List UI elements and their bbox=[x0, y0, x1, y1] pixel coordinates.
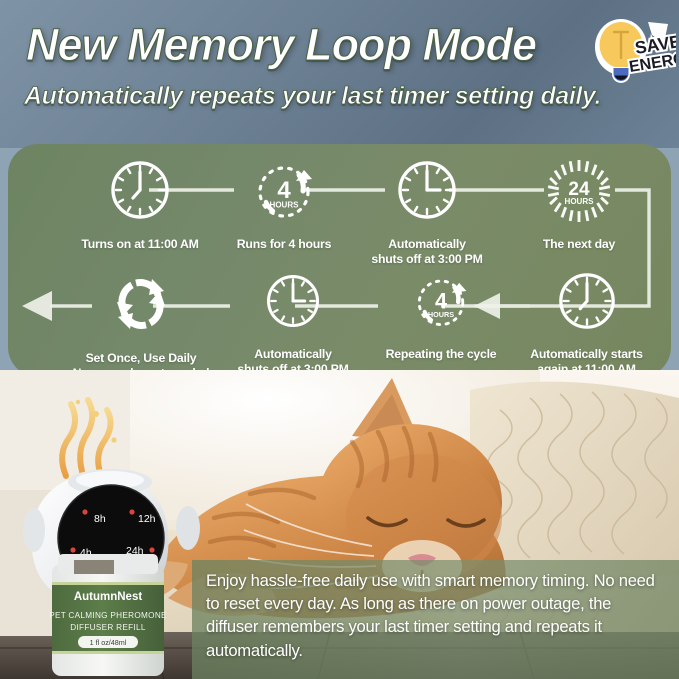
four-hours-icon: 4 HOURS bbox=[412, 272, 470, 330]
page-subtitle: Automatically repeats your last timer se… bbox=[24, 84, 664, 109]
flow-node-4: 24 HOURS The next day bbox=[504, 158, 654, 252]
svg-text:HOURS: HOURS bbox=[270, 201, 300, 210]
clock-icon bbox=[264, 272, 322, 330]
bottle-line1: PET CALMING PHEROMONE bbox=[49, 611, 167, 620]
clock-icon bbox=[395, 158, 459, 222]
flow-node-3: Automaticallyshuts off at 3:00 PM bbox=[337, 158, 517, 266]
memory-loop-flow-panel: Turns on at 11:00 AM 4 HOURS Runs for 4 … bbox=[8, 144, 671, 377]
four-hours-icon: 4 HOURS bbox=[252, 158, 316, 222]
loop-arrows-icon bbox=[111, 274, 171, 334]
indicator-dot-8h bbox=[82, 509, 87, 514]
flow-label-7: Repeating the cycle bbox=[358, 347, 524, 362]
refill-bottle: AutumnNest PET CALMING PHEROMONE DIFFUSE… bbox=[49, 554, 167, 676]
diffuser-device: 8h 12h 4h 24h bbox=[22, 378, 212, 679]
svg-text:HOURS: HOURS bbox=[565, 197, 595, 206]
indicator-dot-24h bbox=[149, 547, 154, 552]
timer-label-8h: 8h bbox=[94, 513, 106, 525]
page-title: New Memory Loop Mode bbox=[26, 22, 586, 67]
flow-node-1: Turns on at 11:00 AM bbox=[50, 158, 230, 252]
infographic-root: New Memory Loop Mode Automatically repea… bbox=[0, 0, 679, 679]
bottom-description-text: Enjoy hassle-free daily use with smart m… bbox=[206, 569, 667, 662]
indicator-dot-4h bbox=[70, 547, 75, 552]
indicator-dot-12h bbox=[129, 509, 134, 514]
clock-icon bbox=[108, 158, 172, 222]
twentyfour-hours-icon: 24 HOURS bbox=[547, 158, 611, 222]
flow-label-3: Automaticallyshuts off at 3:00 PM bbox=[337, 237, 517, 266]
steam-icon bbox=[62, 400, 116, 478]
flow-label-4: The next day bbox=[504, 237, 654, 252]
flow-node-7: 4 HOURS Repeating the cycle bbox=[358, 272, 524, 362]
flow-node-8: Automatically startsagain at 11:00 AM bbox=[504, 270, 669, 376]
timer-label-12h: 12h bbox=[138, 513, 156, 525]
bottle-brand: AutumnNest bbox=[74, 591, 143, 603]
save-energy-badge: SAVE SAVE ENERGY ENERGY bbox=[588, 14, 676, 92]
header-banner: New Memory Loop Mode Automatically repea… bbox=[0, 0, 679, 148]
bottle-volume: 1 fl oz/48ml bbox=[90, 638, 127, 647]
bottle-line2: DIFFUSER REFILL bbox=[70, 623, 146, 632]
svg-text:HOURS: HOURS bbox=[428, 310, 454, 319]
flow-node-6: Automaticallyshuts off at 3:00 PM bbox=[203, 272, 383, 376]
device-illustration: 8h 12h 4h 24h bbox=[22, 378, 212, 679]
flow-label-1: Turns on at 11:00 AM bbox=[50, 237, 230, 252]
clock-icon bbox=[556, 270, 618, 332]
bottom-description-panel: Enjoy hassle-free daily use with smart m… bbox=[192, 560, 679, 679]
badge-text: SAVE SAVE ENERGY ENERGY bbox=[628, 31, 676, 76]
